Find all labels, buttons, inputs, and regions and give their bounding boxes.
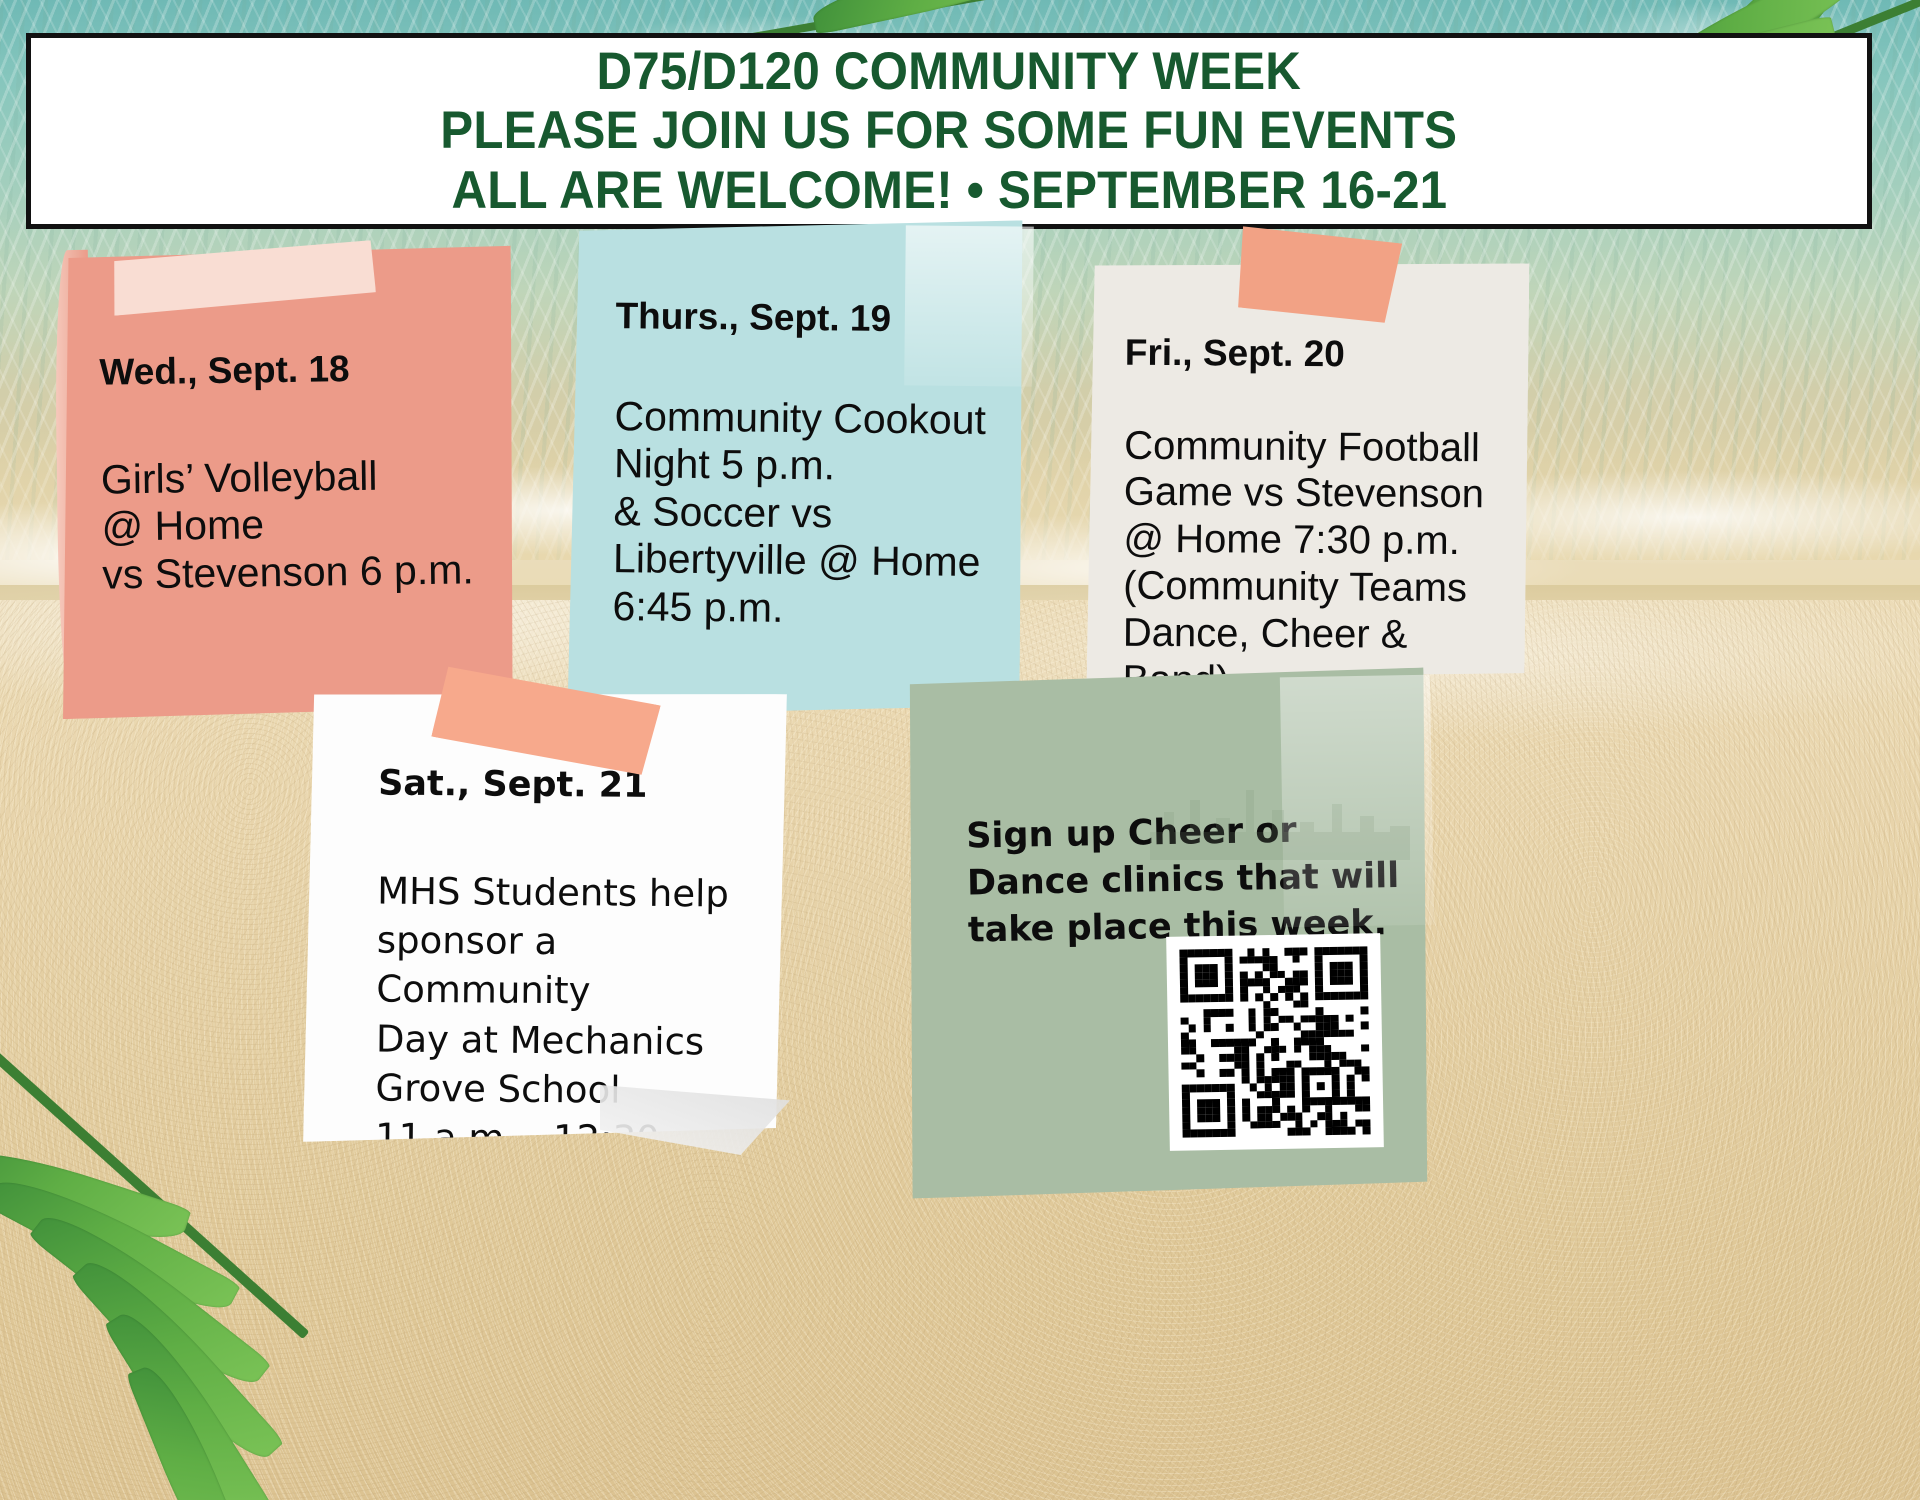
skyline-watermark	[1150, 740, 1410, 860]
banner-line-3: ALL ARE WELCOME! • SEPTEMBER 16-21	[451, 161, 1447, 220]
card-heading-friday: Fri., Sept. 20	[1125, 331, 1525, 377]
event-card-wednesday: Wed., Sept. 18 Girls’ Volleyball @ Home …	[54, 245, 517, 719]
qr-code-matrix	[1179, 946, 1370, 1137]
card-heading-saturday: Sat., Sept. 21	[378, 763, 776, 808]
event-card-saturday: Sat., Sept. 21 MHS Students help sponsor…	[303, 690, 787, 1146]
qr-code[interactable]	[1166, 933, 1384, 1151]
card-body-thursday: Community Cookout Night 5 p.m. & Soccer …	[612, 393, 1014, 635]
banner-line-1: D75/D120 COMMUNITY WEEK	[597, 42, 1302, 101]
card-body-wednesday: Girls’ Volleyball @ Home vs Stevenson 6 …	[101, 451, 506, 599]
flyer-canvas: D75/D120 COMMUNITY WEEK PLEASE JOIN US F…	[0, 0, 1920, 1500]
card-body-friday: Community Football Game vs Stevenson @ H…	[1122, 422, 1524, 706]
flyer-header-banner: D75/D120 COMMUNITY WEEK PLEASE JOIN US F…	[26, 33, 1872, 229]
event-card-friday: Fri., Sept. 20 Community Football Game v…	[1087, 260, 1530, 681]
card-heading-wednesday: Wed., Sept. 18	[99, 345, 503, 394]
banner-line-2: PLEASE JOIN US FOR SOME FUN EVENTS	[441, 101, 1458, 160]
teal-card-sheen	[904, 225, 1034, 386]
